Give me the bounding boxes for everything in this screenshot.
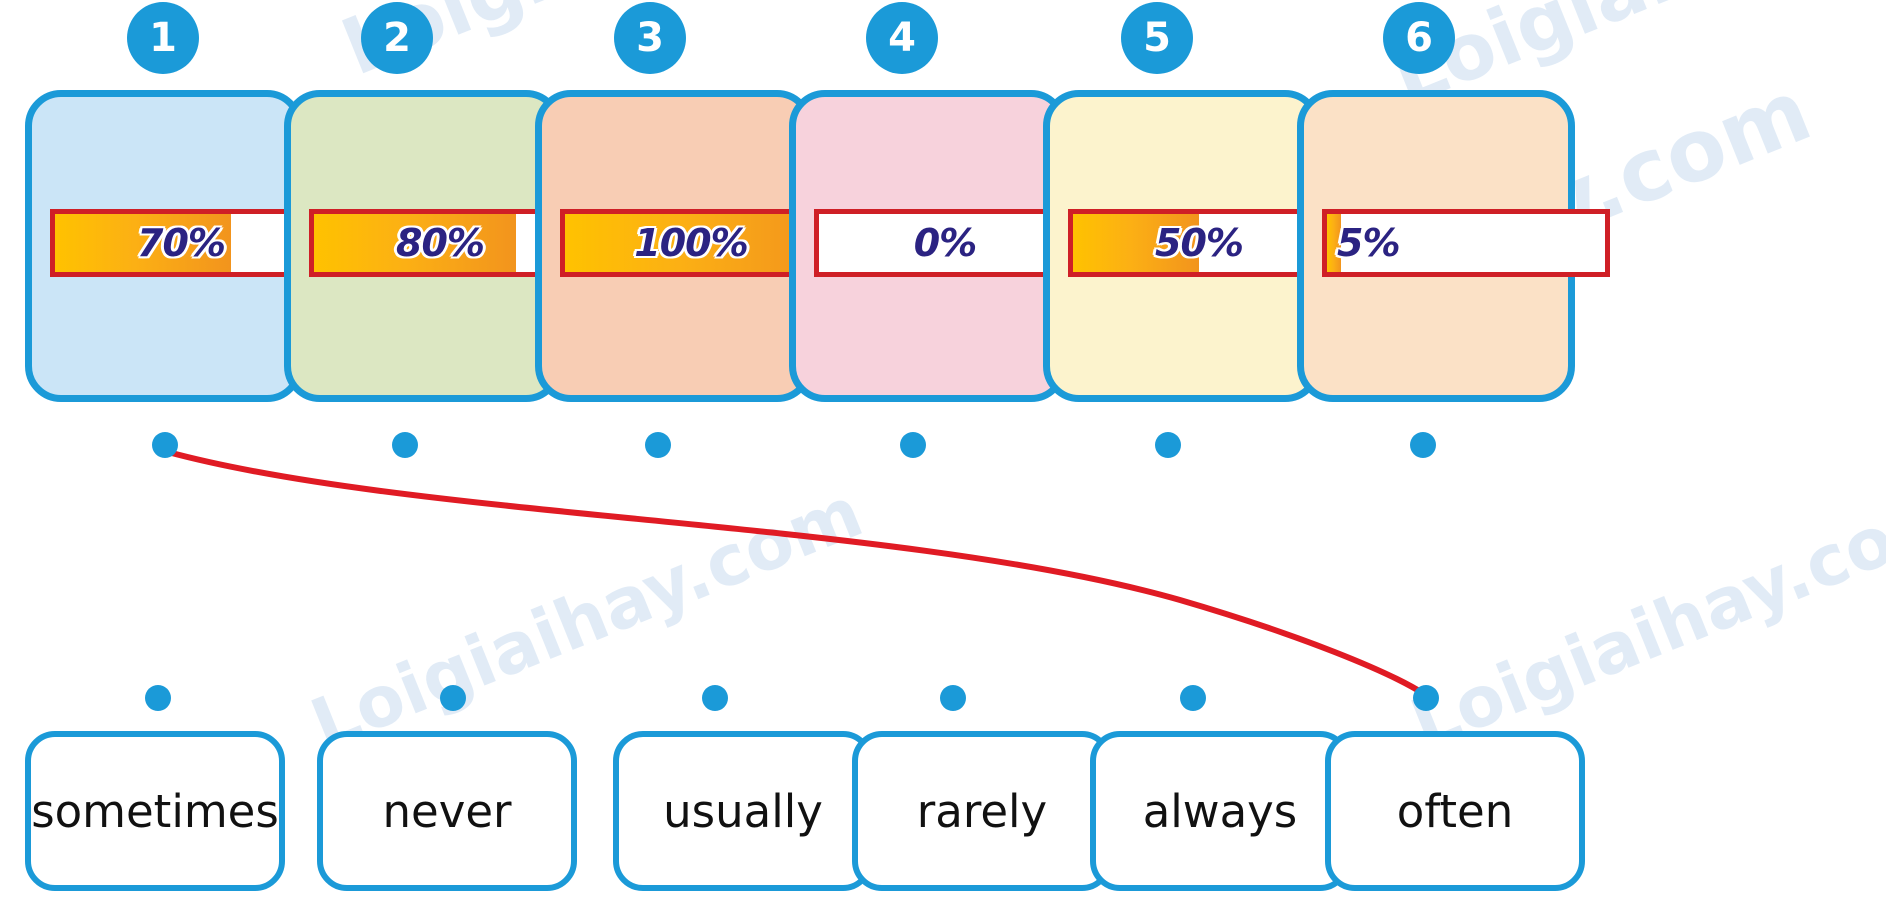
card-number-badge-4: 4 xyxy=(866,2,938,74)
progress-bar-5: 50% xyxy=(1068,209,1330,277)
card-number-label-3: 3 xyxy=(636,15,664,61)
card-number-label-4: 4 xyxy=(888,15,916,61)
card-number-badge-3: 3 xyxy=(614,2,686,74)
word-label-often: often xyxy=(1397,785,1513,838)
connector-dot-card-2[interactable] xyxy=(392,432,418,458)
word-label-usually: usually xyxy=(663,785,823,838)
percent-card-3[interactable]: 100% xyxy=(535,90,813,402)
word-label-sometimes: sometimes xyxy=(31,785,279,838)
percent-card-2[interactable]: 80% xyxy=(284,90,562,402)
progress-bar-1: 70% xyxy=(50,209,312,277)
progress-bar-label-3: 100% xyxy=(565,214,817,272)
progress-bar-label-1: 70% xyxy=(55,214,307,272)
percent-card-4[interactable]: 0% xyxy=(789,90,1067,402)
card-number-badge-5: 5 xyxy=(1121,2,1193,74)
word-box-sometimes[interactable]: sometimes xyxy=(25,731,285,891)
connector-dot-word-rarely[interactable] xyxy=(940,685,966,711)
progress-bar-label-6: 5% xyxy=(1327,214,1605,272)
card-number-badge-1: 1 xyxy=(127,2,199,74)
connector-dot-card-1[interactable] xyxy=(152,432,178,458)
card-number-label-2: 2 xyxy=(383,15,411,61)
connector-dot-card-4[interactable] xyxy=(900,432,926,458)
connector-dot-card-3[interactable] xyxy=(645,432,671,458)
progress-bar-4: 0% xyxy=(814,209,1076,277)
word-box-often[interactable]: often xyxy=(1325,731,1585,891)
progress-bar-6: 5% xyxy=(1322,209,1610,277)
word-box-usually[interactable]: usually xyxy=(613,731,873,891)
word-label-always: always xyxy=(1143,785,1298,838)
connector-dot-word-usually[interactable] xyxy=(702,685,728,711)
connector-dot-word-often[interactable] xyxy=(1413,685,1439,711)
match-connector-path xyxy=(168,452,1424,694)
percent-card-5[interactable]: 50% xyxy=(1043,90,1321,402)
watermark-text-5: Loigiaihay.com xyxy=(300,471,873,766)
connector-dot-card-5[interactable] xyxy=(1155,432,1181,458)
card-number-label-1: 1 xyxy=(149,15,177,61)
connector-dot-word-always[interactable] xyxy=(1180,685,1206,711)
progress-bar-2: 80% xyxy=(309,209,571,277)
matching-exercise-canvas: Loigiaihay.comLoigiaihay.comLoigiaihay.c… xyxy=(0,0,1886,914)
progress-bar-label-5: 50% xyxy=(1073,214,1325,272)
word-box-never[interactable]: never xyxy=(317,731,577,891)
watermark-text-6: Loigiaihay.com xyxy=(1400,471,1886,766)
card-number-label-5: 5 xyxy=(1143,15,1171,61)
connector-dot-word-sometimes[interactable] xyxy=(145,685,171,711)
word-box-always[interactable]: always xyxy=(1090,731,1350,891)
card-number-badge-2: 2 xyxy=(361,2,433,74)
connector-dot-card-6[interactable] xyxy=(1410,432,1436,458)
word-label-rarely: rarely xyxy=(917,785,1047,838)
connector-dot-word-never[interactable] xyxy=(440,685,466,711)
card-number-badge-6: 6 xyxy=(1383,2,1455,74)
progress-bar-label-2: 80% xyxy=(314,214,566,272)
card-number-label-6: 6 xyxy=(1405,15,1433,61)
percent-card-1[interactable]: 70% xyxy=(25,90,303,402)
word-label-never: never xyxy=(382,785,511,838)
percent-card-6[interactable]: 5% xyxy=(1297,90,1575,402)
progress-bar-3: 100% xyxy=(560,209,822,277)
progress-bar-label-4: 0% xyxy=(819,214,1071,272)
word-box-rarely[interactable]: rarely xyxy=(852,731,1112,891)
